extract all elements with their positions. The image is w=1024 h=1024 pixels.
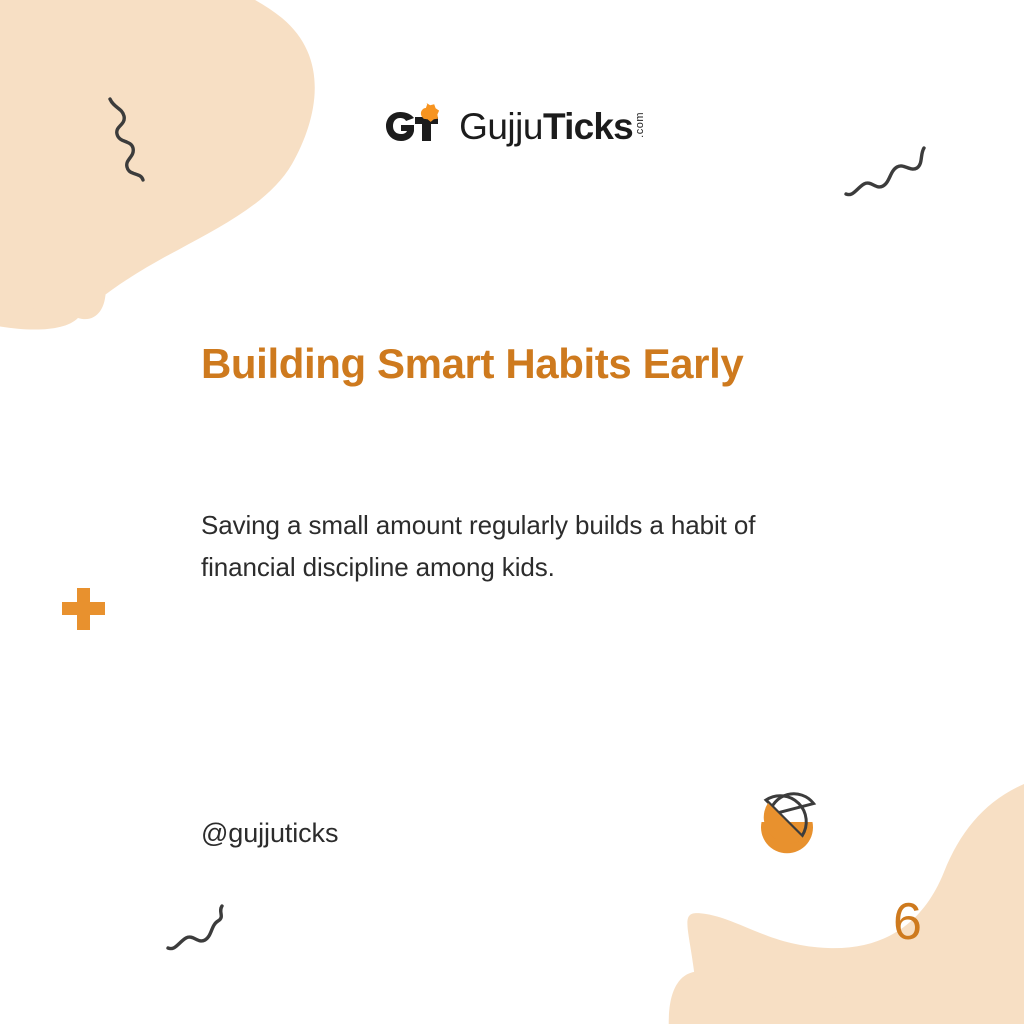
page-number: 6 bbox=[893, 896, 922, 948]
blob-bottom-right-shape bbox=[687, 770, 1024, 1024]
blob-top-left-shape bbox=[0, 0, 315, 330]
gt-monogram-icon bbox=[378, 103, 448, 149]
blob-bottom-right-wave bbox=[669, 940, 1024, 1024]
half-circle-pair-icon bbox=[753, 791, 821, 865]
wordmark-ticks: Ticks bbox=[543, 108, 633, 145]
blob-top-left-tail bbox=[0, 120, 106, 319]
plus-icon bbox=[62, 588, 105, 630]
squiggle-top-right bbox=[846, 148, 924, 195]
brand-logo[interactable]: Gujju Ticks .com bbox=[0, 103, 1024, 149]
social-handle[interactable]: @gujjuticks bbox=[201, 818, 338, 849]
wordmark-gujju: Gujju bbox=[459, 108, 543, 145]
slide-canvas: Gujju Ticks .com Building Smart Habits E… bbox=[0, 0, 1024, 1024]
body-text: Saving a small amount regularly builds a… bbox=[201, 504, 801, 588]
wordmark-com-suffix: .com bbox=[635, 112, 646, 138]
page-title: Building Smart Habits Early bbox=[201, 340, 901, 388]
squiggle-bottom-left bbox=[168, 906, 222, 949]
